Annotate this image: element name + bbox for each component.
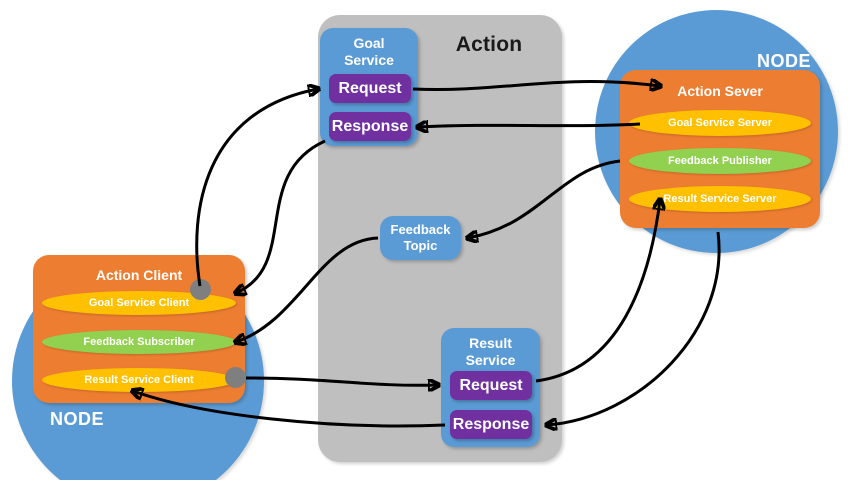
goal-service-request[interactable]: Request	[329, 74, 411, 103]
feedback-topic-line1: Feedback	[391, 222, 451, 238]
feedback-topic-box: Feedback Topic	[380, 216, 461, 260]
goal-service-title-line1: Goal	[320, 35, 418, 52]
result-service-response[interactable]: Response	[450, 410, 532, 439]
action-panel-title: Action	[424, 33, 554, 57]
goal-service-title-line2: Service	[320, 52, 418, 69]
diagram-canvas: Action Action Client Goal Service Client…	[0, 0, 854, 480]
result-service-title-line1: Result	[441, 335, 540, 352]
pill-goal-service-server[interactable]: Goal Service Server	[629, 110, 811, 136]
action-client-title: Action Client	[33, 267, 245, 283]
pill-feedback-subscriber[interactable]: Feedback Subscriber	[42, 330, 236, 354]
goal-service-response[interactable]: Response	[329, 112, 411, 141]
node-label-server: NODE	[757, 51, 811, 72]
action-client-box: Action Client Goal Service Client Feedba…	[33, 255, 245, 403]
pill-feedback-publisher[interactable]: Feedback Publisher	[629, 148, 811, 174]
feedback-topic-label: Feedback Topic	[391, 222, 451, 254]
result-service-title: Result Service	[441, 335, 540, 369]
pill-result-service-server[interactable]: Result Service Server	[629, 186, 811, 212]
goal-service-title: Goal Service	[320, 35, 418, 69]
result-service-request[interactable]: Request	[450, 371, 532, 400]
pill-result-service-client[interactable]: Result Service Client	[42, 368, 236, 392]
node-label-client: NODE	[50, 409, 104, 430]
arrow-goal-response-to-goal-service-client	[236, 141, 325, 293]
result-service-title-line2: Service	[441, 352, 540, 369]
connector-dot-goal-client	[190, 279, 211, 300]
feedback-topic-line2: Topic	[391, 238, 451, 254]
action-server-title: Action Sever	[620, 83, 820, 99]
connector-dot-result-client	[225, 367, 246, 388]
arrow-result-service-server-to-result-response	[547, 232, 719, 425]
action-server-box: Action Sever Goal Service Server Feedbac…	[620, 70, 820, 228]
